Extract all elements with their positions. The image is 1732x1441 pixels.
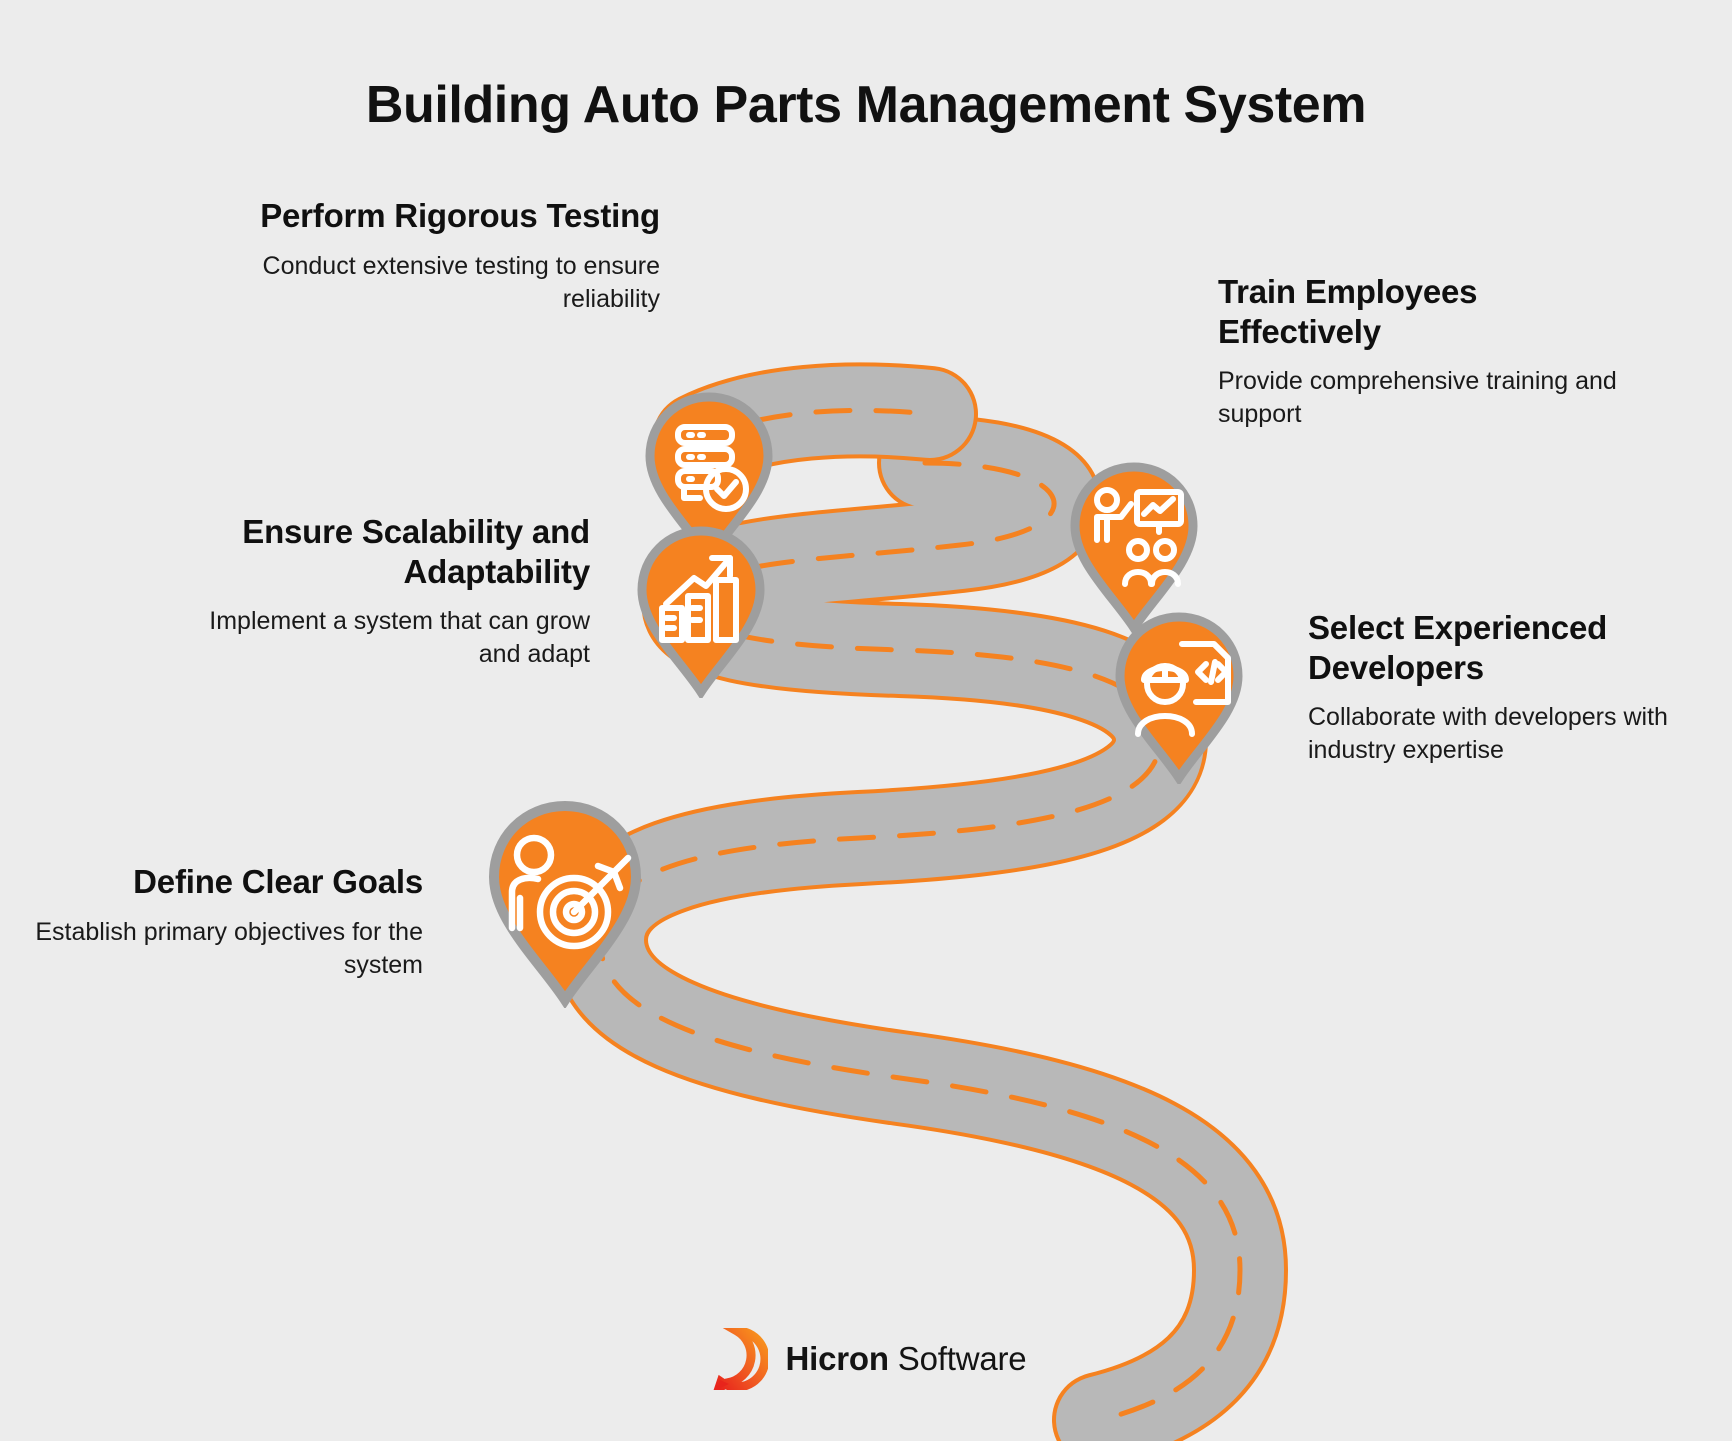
logo-wordmark: Hicron Software <box>786 1340 1027 1378</box>
step-heading-developers: Select Experienced Developers <box>1308 608 1728 687</box>
logo-word-primary: Hicron <box>786 1340 889 1377</box>
map-pin-scalability[interactable] <box>632 526 770 698</box>
hicron-ring-logo <box>706 1328 768 1390</box>
step-description-goals: Establish primary objectives for the sys… <box>18 916 423 982</box>
step-block-developers: Select Experienced Developers Collaborat… <box>1308 608 1728 767</box>
step-heading-testing: Perform Rigorous Testing <box>198 196 660 236</box>
step-description-scalability: Implement a system that can grow and ada… <box>185 605 590 671</box>
step-block-scalability: Ensure Scalability and Adaptability Impl… <box>185 512 590 671</box>
step-heading-goals: Define Clear Goals <box>18 862 423 902</box>
step-description-developers: Collaborate with developers with industr… <box>1308 701 1728 767</box>
step-heading-training: Train Employees Effectively <box>1218 272 1618 351</box>
map-pin-goals[interactable] <box>482 800 648 1008</box>
footer-logo: Hicron Software <box>0 1328 1732 1390</box>
step-block-testing: Perform Rigorous Testing Conduct extensi… <box>198 196 660 316</box>
map-pin-developers[interactable] <box>1110 612 1248 784</box>
logo-word-secondary: Software <box>889 1340 1027 1377</box>
map-pin-training[interactable] <box>1065 462 1203 634</box>
infographic-canvas: Building Auto Parts Management System Pe… <box>0 0 1732 1441</box>
step-block-training: Train Employees Effectively Provide comp… <box>1218 272 1618 431</box>
step-block-goals: Define Clear Goals Establish primary obj… <box>18 862 423 982</box>
step-description-training: Provide comprehensive training and suppo… <box>1218 365 1618 431</box>
step-description-testing: Conduct extensive testing to ensure reli… <box>198 250 660 316</box>
step-heading-scalability: Ensure Scalability and Adaptability <box>185 512 590 591</box>
